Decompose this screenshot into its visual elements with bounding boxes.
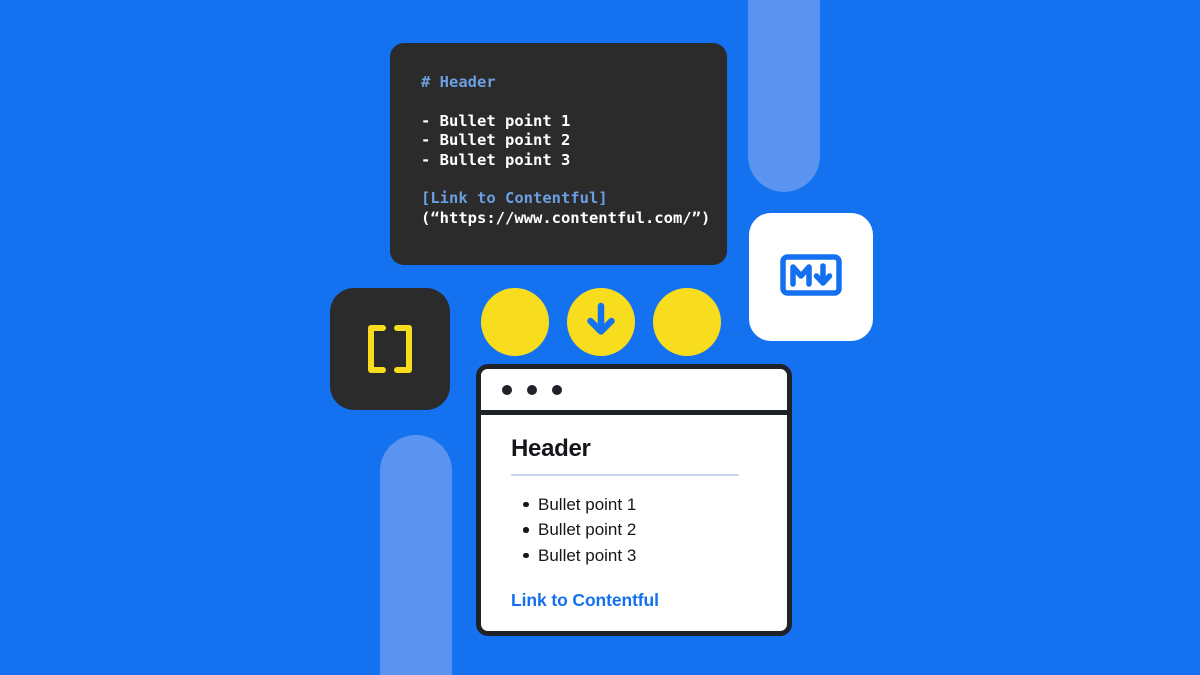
markdown-badge bbox=[749, 213, 873, 341]
code-line-bullet-1: - Bullet point 1 bbox=[421, 112, 727, 132]
list-item: Bullet point 2 bbox=[538, 517, 765, 543]
browser-content: Header Bullet point 1 Bullet point 2 Bul… bbox=[481, 415, 787, 631]
window-dot-minimize[interactable] bbox=[527, 385, 537, 395]
code-line-bullet-2: - Bullet point 2 bbox=[421, 131, 727, 151]
list-item: Bullet point 1 bbox=[538, 492, 765, 518]
code-line-link-url: (“https://www.contentful.com/”) bbox=[421, 209, 727, 229]
code-line-link-label: [Link to Contentful] bbox=[421, 189, 727, 209]
decorative-pill-bottom-left bbox=[380, 435, 452, 675]
preview-contentful-link[interactable]: Link to Contentful bbox=[511, 590, 659, 611]
markdown-source-card: # Header - Bullet point 1 - Bullet point… bbox=[390, 43, 727, 265]
list-item: Bullet point 3 bbox=[538, 543, 765, 569]
markdown-logo-icon bbox=[780, 254, 842, 301]
code-line-bullet-3: - Bullet point 3 bbox=[421, 151, 727, 171]
down-arrow-icon bbox=[584, 302, 618, 343]
download-arrow-circle bbox=[567, 288, 635, 356]
illustration-canvas: # Header - Bullet point 1 - Bullet point… bbox=[0, 0, 1200, 675]
plain-yellow-circle bbox=[481, 288, 549, 356]
browser-titlebar bbox=[481, 369, 787, 415]
preview-divider bbox=[511, 474, 739, 476]
preview-heading: Header bbox=[511, 435, 765, 463]
window-dot-maximize[interactable] bbox=[552, 385, 562, 395]
square-brackets-card bbox=[330, 288, 450, 410]
code-line-heading: # Header bbox=[421, 73, 727, 93]
preview-bullet-list: Bullet point 1 Bullet point 2 Bullet poi… bbox=[511, 492, 765, 569]
code-line-spacer bbox=[421, 170, 727, 189]
square-brackets-icon bbox=[364, 325, 416, 373]
code-line-spacer bbox=[421, 93, 727, 112]
browser-preview-window: Header Bullet point 1 Bullet point 2 Bul… bbox=[476, 364, 792, 636]
plain-yellow-circle bbox=[653, 288, 721, 356]
window-dot-close[interactable] bbox=[502, 385, 512, 395]
decorative-pill-top-right bbox=[748, 0, 820, 192]
